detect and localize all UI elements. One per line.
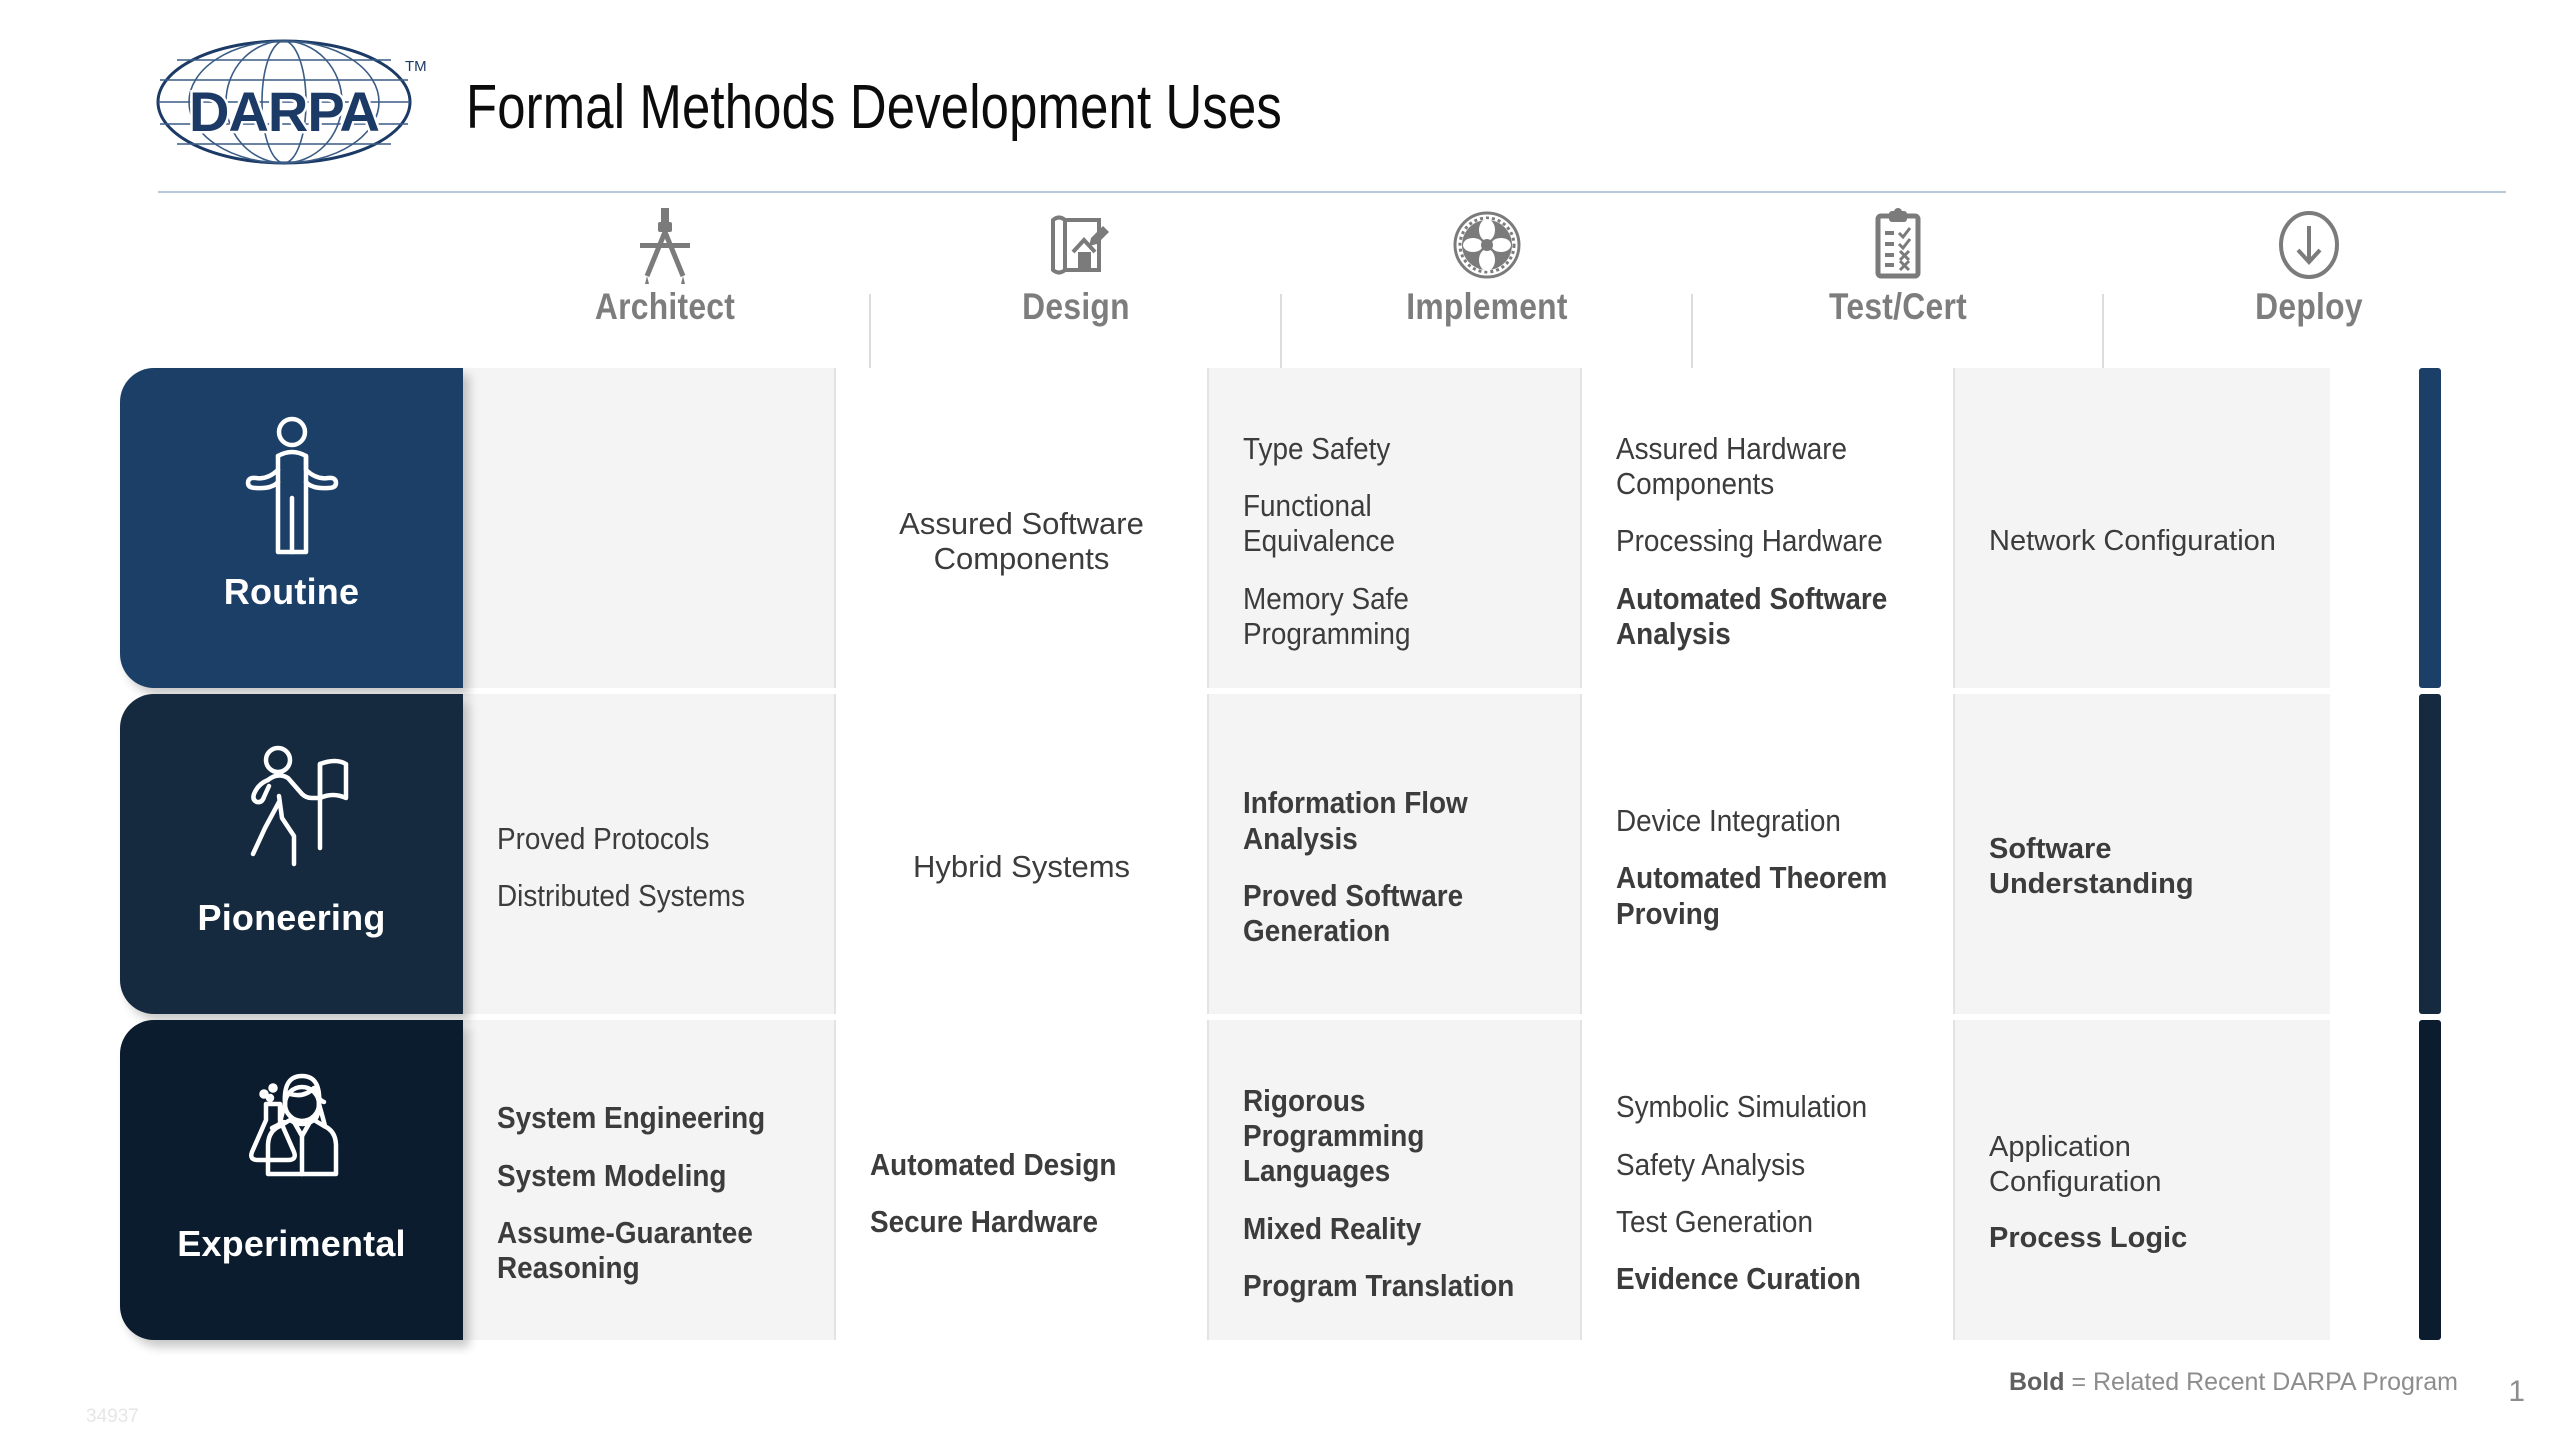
- cell-routine-architect: [463, 368, 836, 688]
- svg-text:DARPA: DARPA: [189, 80, 379, 143]
- column-label: Test/Cert: [1722, 286, 2075, 328]
- column-header-design: Design: [871, 200, 1281, 368]
- list-item: Process Logic: [1989, 1221, 2296, 1256]
- column-divider: [1691, 294, 1693, 368]
- cell-routine-testcert: Assured Hardware Components Processing H…: [1582, 368, 1955, 688]
- row-accent-bar: [2419, 368, 2441, 688]
- row-label-text: Routine: [120, 571, 463, 613]
- cell-routine-implement: Type Safety Functional Equivalence Memor…: [1209, 368, 1582, 688]
- column-label: Architect: [489, 286, 842, 328]
- list-item: Device Integration: [1616, 803, 1889, 838]
- header-divider: [158, 191, 2506, 193]
- list-item: Distributed Systems: [497, 878, 770, 913]
- list-item: Hybrid Systems: [913, 849, 1130, 884]
- column-header-testcert: Test/Cert: [1693, 200, 2103, 368]
- capability-matrix: Architect Design: [120, 200, 2440, 1360]
- cell-experimental-implement: Rigorous Programming Languages Mixed Rea…: [1209, 1020, 1582, 1340]
- gear-icon: [1450, 206, 1524, 284]
- cell-routine-deploy: Network Configuration: [1955, 368, 2330, 688]
- list-item: Proved Software Generation: [1243, 878, 1516, 949]
- list-item: Proved Protocols: [497, 821, 770, 856]
- legend-description: = Related Recent DARPA Program: [2065, 1368, 2458, 1396]
- bold-legend: Bold = Related Recent DARPA Program: [2009, 1368, 2458, 1397]
- cell-routine-design: Assured Software Components: [836, 368, 1209, 688]
- cell-pioneering-deploy: Software Understanding: [1955, 694, 2330, 1014]
- list-item: Automated Theorem Proving: [1616, 860, 1889, 931]
- list-item: Program Translation: [1243, 1268, 1516, 1303]
- blueprint-pencil-icon: [1039, 206, 1113, 284]
- column-header-architect: Architect: [460, 200, 870, 368]
- document-code: 34937: [86, 1406, 139, 1428]
- list-item: Symbolic Simulation: [1616, 1089, 1889, 1124]
- column-divider: [2102, 294, 2104, 368]
- list-item: Rigorous Programming Languages: [1243, 1083, 1516, 1189]
- explorer-flag-icon: [232, 738, 352, 888]
- cell-pioneering-implement: Information Flow Analysis Proved Softwar…: [1209, 694, 1582, 1014]
- list-item: Assured Software Components: [870, 506, 1173, 577]
- cell-experimental-design: Automated Design Secure Hardware: [836, 1020, 1209, 1340]
- cell-pioneering-testcert: Device Integration Automated Theorem Pro…: [1582, 694, 1955, 1014]
- row-label-routine[interactable]: Routine: [120, 368, 463, 688]
- column-header-implement: Implement: [1282, 200, 1692, 368]
- trademark-mark: TM: [405, 58, 427, 75]
- list-item: Evidence Curation: [1616, 1261, 1889, 1296]
- list-item: Memory Safe Programming: [1243, 581, 1516, 652]
- row-label-text: Pioneering: [120, 897, 463, 939]
- list-item: Secure Hardware: [870, 1204, 1143, 1239]
- list-item: Software Understanding: [1989, 832, 2296, 902]
- column-divider: [869, 294, 871, 368]
- scientist-flask-icon: [232, 1064, 352, 1214]
- row-cells: Assured Software Components Type Safety …: [463, 368, 2440, 688]
- list-item: Automated Software Analysis: [1616, 581, 1889, 652]
- slide-header: DARPA TM Formal Methods Development Uses: [0, 0, 2560, 196]
- column-header-row: Architect Design: [460, 200, 2560, 368]
- list-item: Automated Design: [870, 1147, 1143, 1182]
- row-label-text: Experimental: [120, 1223, 463, 1265]
- row-cells: Proved Protocols Distributed Systems Hyb…: [463, 694, 2440, 1014]
- standing-person-icon: [232, 412, 352, 562]
- cell-experimental-architect: System Engineering System Modeling Assum…: [463, 1020, 836, 1340]
- cell-experimental-testcert: Symbolic Simulation Safety Analysis Test…: [1582, 1020, 1955, 1340]
- list-item: Mixed Reality: [1243, 1211, 1516, 1246]
- page-number: 1: [2508, 1375, 2525, 1409]
- table-row: Pioneering Proved Protocols Distributed …: [120, 694, 2440, 1014]
- page-title: Formal Methods Development Uses: [466, 72, 1282, 143]
- row-accent-bar: [2419, 694, 2441, 1014]
- cell-experimental-deploy: Application Configuration Process Logic: [1955, 1020, 2330, 1340]
- list-item: System Engineering: [497, 1100, 770, 1135]
- table-row: Routine Assured Software Components Type…: [120, 368, 2440, 688]
- list-item: Network Configuration: [1989, 524, 2296, 559]
- cell-pioneering-architect: Proved Protocols Distributed Systems: [463, 694, 836, 1014]
- list-item: Information Flow Analysis: [1243, 785, 1516, 856]
- row-label-pioneering[interactable]: Pioneering: [120, 694, 463, 1014]
- list-item: Assured Hardware Components: [1616, 431, 1889, 502]
- matrix-rows: Routine Assured Software Components Type…: [120, 368, 2440, 1360]
- column-label: Design: [900, 286, 1253, 328]
- row-accent-bar: [2419, 1020, 2441, 1340]
- legend-bold-word: Bold: [2009, 1368, 2065, 1396]
- table-row: Experimental System Engineering System M…: [120, 1020, 2440, 1340]
- darpa-logo: DARPA: [155, 38, 413, 166]
- column-divider: [1280, 294, 1282, 368]
- clipboard-check-icon: [1861, 206, 1935, 284]
- list-item: Type Safety: [1243, 431, 1516, 466]
- row-cells: System Engineering System Modeling Assum…: [463, 1020, 2440, 1340]
- list-item: Test Generation: [1616, 1204, 1889, 1239]
- list-item: System Modeling: [497, 1158, 770, 1193]
- list-item: Assume-Guarantee Reasoning: [497, 1215, 770, 1286]
- column-label: Deploy: [2133, 286, 2486, 328]
- download-circle-icon: [2272, 206, 2346, 284]
- column-header-deploy: Deploy: [2104, 200, 2514, 368]
- compass-divider-icon: [628, 206, 702, 284]
- cell-pioneering-design: Hybrid Systems: [836, 694, 1209, 1014]
- column-label: Implement: [1311, 286, 1664, 328]
- list-item: Safety Analysis: [1616, 1147, 1889, 1182]
- list-item: Processing Hardware: [1616, 523, 1889, 558]
- list-item: Functional Equivalence: [1243, 488, 1516, 559]
- row-label-experimental[interactable]: Experimental: [120, 1020, 463, 1340]
- list-item: Application Configuration: [1989, 1130, 2296, 1200]
